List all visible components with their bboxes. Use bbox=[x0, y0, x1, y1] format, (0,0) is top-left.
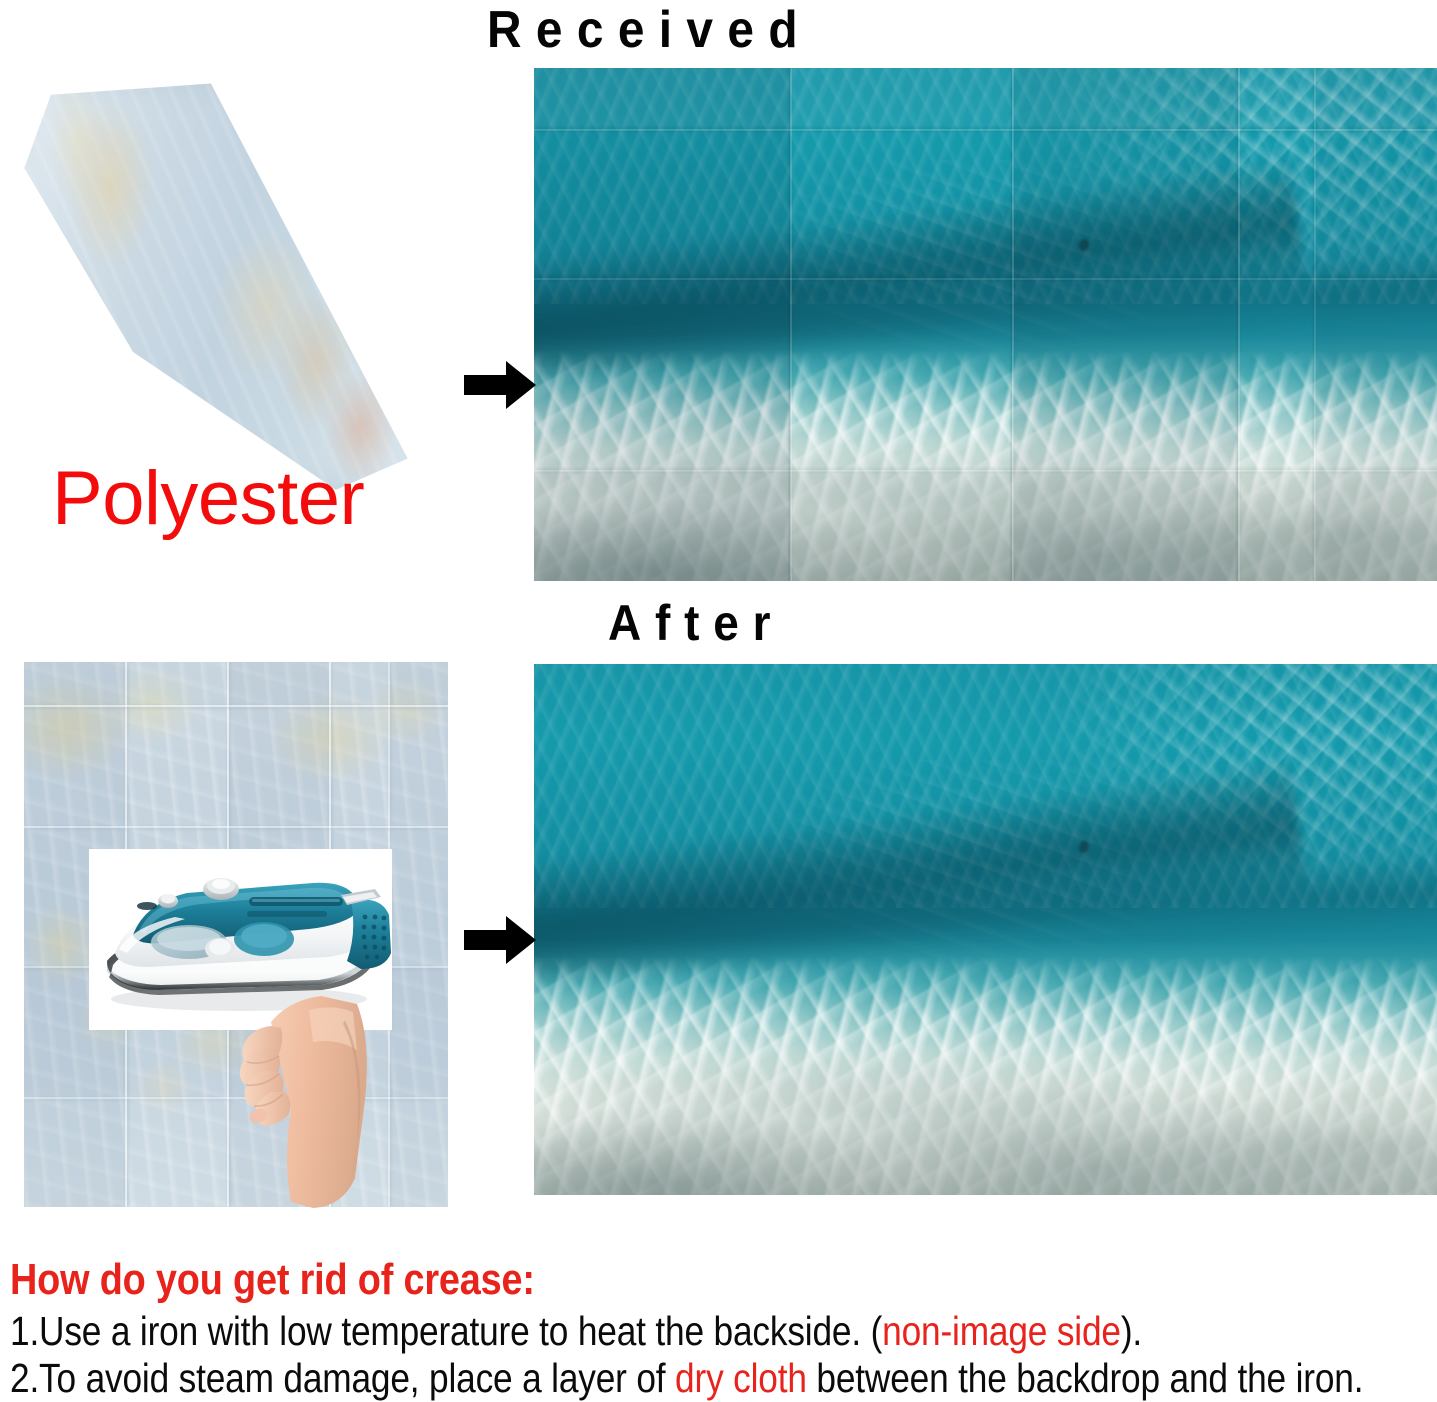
folded-polyester-swatch bbox=[12, 76, 422, 494]
instructions-block: How do you get rid of crease: 1.Use a ir… bbox=[10, 1254, 1435, 1402]
instruction-line-2-prefix: 2.To avoid steam damage, place a layer o… bbox=[10, 1355, 675, 1401]
steam-iron-icon bbox=[89, 849, 392, 1030]
instruction-line-1: 1.Use a iron with low temperature to hea… bbox=[10, 1308, 1236, 1355]
received-backdrop-photo bbox=[534, 68, 1437, 581]
instruction-line-1-prefix: 1.Use a iron with low temperature to hea… bbox=[10, 1308, 882, 1354]
seabed-bottom-shade bbox=[534, 1121, 1437, 1195]
swatch-edge-highlight bbox=[12, 76, 422, 494]
after-backdrop-photo bbox=[534, 664, 1437, 1195]
polyester-material-label: Polyester bbox=[52, 457, 364, 541]
instructions-heading: How do you get rid of crease: bbox=[10, 1254, 1236, 1306]
instruction-line-1-highlight: non-image side bbox=[882, 1308, 1121, 1354]
after-section-title: After bbox=[608, 596, 784, 650]
instruction-line-2-suffix: between the backdrop and the iron. bbox=[807, 1355, 1364, 1401]
arrow-right-icon bbox=[462, 358, 538, 412]
instruction-line-1-suffix: ). bbox=[1121, 1308, 1142, 1354]
iron-demo-overlay bbox=[89, 849, 392, 1030]
seabed-bottom-shade bbox=[534, 509, 1437, 581]
arrow-right-icon bbox=[462, 913, 538, 967]
instruction-line-2-highlight: dry cloth bbox=[675, 1355, 807, 1401]
received-section-title: Received bbox=[487, 2, 812, 58]
instruction-line-2: 2.To avoid steam damage, place a layer o… bbox=[10, 1355, 1236, 1402]
